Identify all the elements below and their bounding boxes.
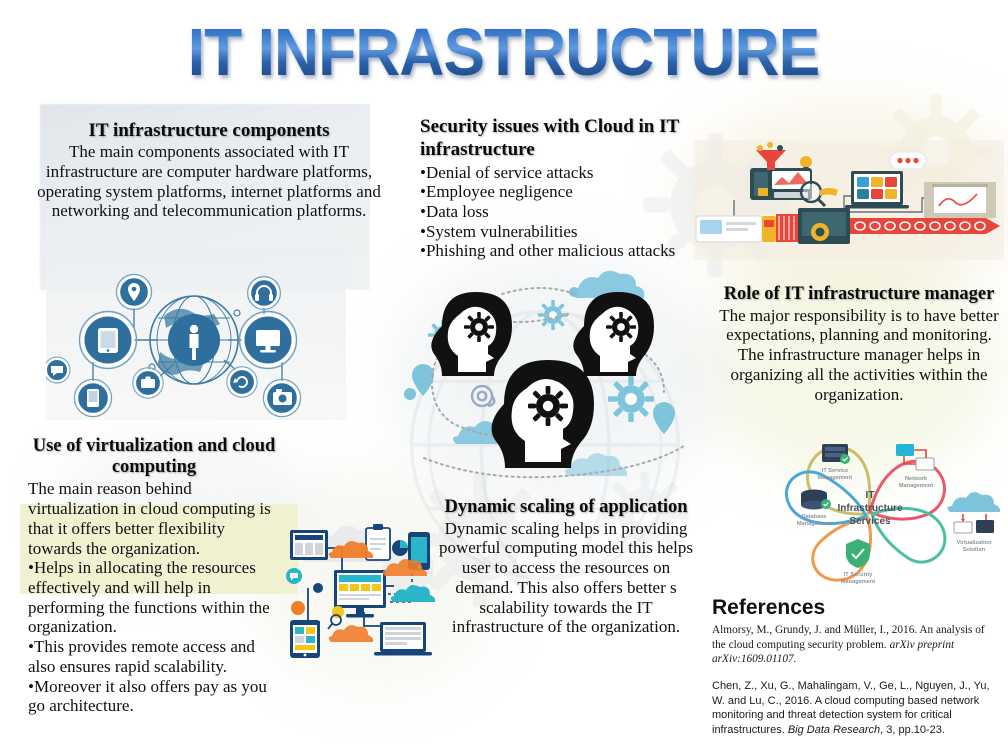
svg-text:Infrastructure: Infrastructure <box>837 503 902 514</box>
references-heading: References <box>712 596 1000 620</box>
poster-title-wrapper: IT INFRASTRUCTURE <box>0 14 1008 91</box>
poster-canvas: IT INFRASTRUCTURE <box>0 0 1008 756</box>
process-conveyor-illustration <box>694 140 1004 260</box>
block-virtualization-cloud: Use of virtualization and cloud computin… <box>28 436 280 716</box>
virtualization-heading: Use of virtualization and cloud computin… <box>28 436 280 477</box>
list-item: •This provides remote access and also en… <box>28 637 280 676</box>
components-heading: IT infrastructure components <box>28 120 390 141</box>
block-it-infrastructure-components: IT infrastructure components The main co… <box>28 120 390 221</box>
virtualization-body-wrap: The main reason behind virtualization in… <box>28 479 280 716</box>
it-services-petal-diagram: IT Infrastructure Services IT ServiceMan… <box>730 432 1006 592</box>
list-item: •Denial of service attacks <box>420 163 730 183</box>
reference-entry: Almorsy, M., Grundy, J. and Müller, I., … <box>712 623 1000 667</box>
heads-gears-illustration <box>398 268 704 500</box>
svg-text:Management: Management <box>899 483 933 489</box>
role-body: The major responsibility is to have bett… <box>718 306 1000 405</box>
role-heading: Role of IT infrastructure manager <box>718 284 1000 305</box>
virtualization-body: The main reason behind virtualization in… <box>28 479 280 558</box>
references-section: References Almorsy, M., Grundy, J. and M… <box>712 596 1000 737</box>
list-item: •Phishing and other malicious attacks <box>420 241 730 261</box>
list-item: •Data loss <box>420 202 730 222</box>
reference-italic: Big Data Research <box>788 724 880 736</box>
block-role-of-manager: Role of IT infrastructure manager The ma… <box>718 284 1000 404</box>
security-heading: Security issues with Cloud in IT infrast… <box>420 116 730 162</box>
virtualization-bullet-list: •Helps in allocating the resources effec… <box>28 558 280 716</box>
reference-text-tail: , 3, pp.10-23. <box>880 724 945 736</box>
svg-text:Virtualization: Virtualization <box>956 540 992 546</box>
svg-text:Services: Services <box>849 516 891 527</box>
svg-text:Database: Database <box>802 514 827 520</box>
list-item: •System vulnerabilities <box>420 222 730 242</box>
svg-text:Management: Management <box>841 579 875 585</box>
svg-text:Management: Management <box>797 521 831 527</box>
dynamic-heading: Dynamic scaling of application <box>438 497 694 518</box>
network-diagram-illustration <box>46 266 338 422</box>
svg-text:IT: IT <box>866 490 875 501</box>
dynamic-body: Dynamic scaling helps in providing power… <box>438 519 694 637</box>
svg-text:Solution: Solution <box>963 547 986 553</box>
components-body: The main components associated with IT i… <box>28 142 390 221</box>
svg-text:IT Service: IT Service <box>822 468 848 474</box>
list-item: •Moreover it also offers pay as you go a… <box>28 677 280 716</box>
reference-entry: Chen, Z., Xu, G., Mahalingam, V., Ge, L.… <box>712 679 1000 737</box>
list-item: •Helps in allocating the resources effec… <box>28 558 280 637</box>
block-security-issues: Security issues with Cloud in IT infrast… <box>420 116 730 261</box>
block-dynamic-scaling: Dynamic scaling of application Dynamic s… <box>438 497 694 637</box>
devices-cloud-illustration <box>278 508 450 660</box>
svg-text:Network: Network <box>905 476 928 482</box>
svg-text:IT Security: IT Security <box>844 572 873 578</box>
page-title: IT INFRASTRUCTURE <box>188 14 819 91</box>
security-bullet-list: •Denial of service attacks •Employee neg… <box>420 163 730 262</box>
list-item: •Employee negligence <box>420 182 730 202</box>
svg-text:Management: Management <box>818 475 852 481</box>
